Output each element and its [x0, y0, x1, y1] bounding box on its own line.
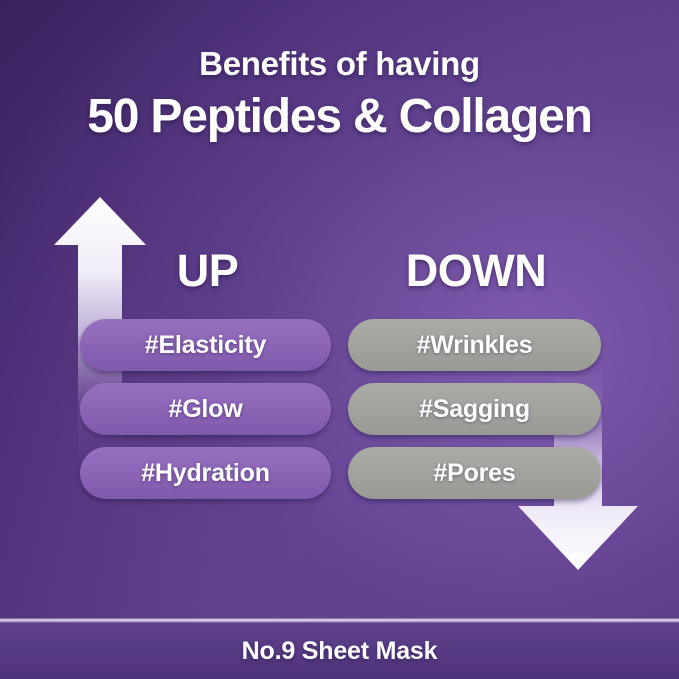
benefit-pill-label: #Sagging: [419, 395, 530, 424]
benefit-pill-label: #Wrinkles: [417, 331, 533, 360]
column-heading-down: DOWN: [362, 245, 590, 297]
header-block: Benefits of having 50 Peptides & Collage…: [0, 44, 679, 143]
footer-product-name: No.9 Sheet Mask: [242, 637, 438, 666]
benefit-pill-label: #Elasticity: [145, 331, 266, 360]
benefit-pill-up: #Hydration: [80, 447, 331, 499]
benefit-pill-down: #Wrinkles: [348, 319, 601, 371]
benefit-pill-down: #Pores: [348, 447, 601, 499]
page-title: 50 Peptides & Collagen: [0, 91, 679, 144]
poster-canvas: Benefits of having 50 Peptides & Collage…: [0, 0, 679, 679]
benefit-pill-down: #Sagging: [348, 383, 601, 435]
benefit-pill-up: #Elasticity: [80, 319, 331, 371]
benefit-pill-up: #Glow: [80, 383, 331, 435]
column-heading-up: UP: [110, 245, 305, 297]
page-subtitle: Benefits of having: [0, 44, 679, 84]
benefit-pill-label: #Glow: [168, 395, 242, 424]
benefit-pill-label: #Hydration: [141, 459, 270, 488]
benefit-pill-label: #Pores: [433, 459, 515, 488]
footer-band: No.9 Sheet Mask: [0, 623, 679, 679]
